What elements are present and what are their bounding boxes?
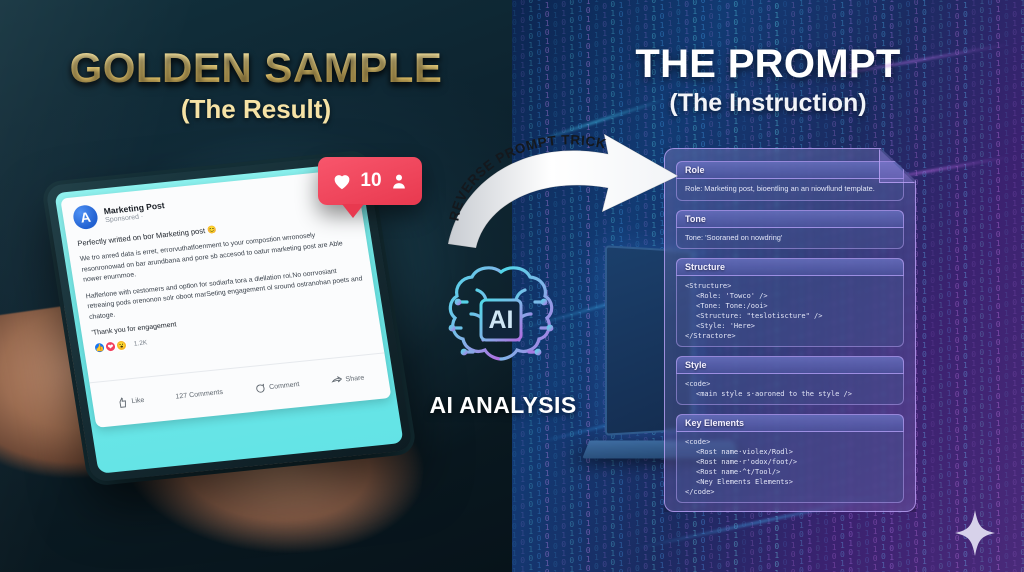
post-body-text-1: We tro anred data is erret, errorvuthatf… <box>79 227 359 286</box>
prompt-document-panel: RoleRole: Marketing post, bioentling an … <box>664 148 916 512</box>
thumbsup-reaction-icon: 👍 <box>93 342 106 354</box>
comment-label: Comment <box>269 381 300 391</box>
prompt-line: <Rost name·^t/Tool/> <box>685 467 895 477</box>
post-sponsored-label: Sponsored · <box>104 210 166 225</box>
prompt-section-body: <code><Rost name·violex/Rodl><Rost name·… <box>676 432 904 503</box>
hand-left <box>0 283 271 572</box>
post-lead-text: Perfectly writted on bor Marketing post … <box>77 210 354 249</box>
ai-analysis-label: AI ANALYSIS <box>408 392 598 419</box>
comment-button[interactable]: Comment <box>253 379 300 394</box>
wow-reaction-icon: 😮 <box>115 339 128 351</box>
post-header: A Marketing Post Sponsored · ••• <box>72 179 351 231</box>
prompt-line: <Structure: "teslotiscture" /> <box>685 311 895 321</box>
prompt-line: </code> <box>685 487 895 497</box>
prompt-section-body: <code><main style s·aoroned to the style… <box>676 374 904 405</box>
share-button[interactable]: Share <box>330 373 365 387</box>
heart-reaction-icon: ❤ <box>104 341 117 353</box>
prompt-line: <main style s·aoroned to the style /> <box>685 389 895 399</box>
prompt-line: <Structure> <box>685 281 895 291</box>
prompt-line: <Role: 'Towco' /> <box>685 291 895 301</box>
page-subtitle-left: (The Result) <box>0 94 512 125</box>
thumbsup-icon <box>116 397 129 409</box>
prompt-section-body: Role: Marketing post, bioentling an an n… <box>676 179 904 201</box>
curved-arrow-right-icon: REVERSE PROMPT TRICK <box>432 132 700 260</box>
page-title-left: GOLDEN SAMPLE <box>0 44 512 92</box>
prompt-line: Tone: 'Sooraned on nowdring' <box>685 233 895 244</box>
reverse-prompt-arrow: REVERSE PROMPT TRICK <box>432 132 700 260</box>
prompt-section-heading: Role <box>676 161 904 179</box>
hand-right <box>109 367 431 572</box>
prompt-section-heading: Tone <box>676 210 904 228</box>
avatar: A <box>72 204 100 230</box>
like-label: Like <box>131 397 145 405</box>
prompt-section-heading: Structure <box>676 258 904 276</box>
share-icon <box>330 375 343 387</box>
sparkle-icon <box>955 510 995 556</box>
brain-chip-label: AI <box>489 306 514 334</box>
prompt-section-heading: Key Elements <box>676 414 904 432</box>
prompt-line: <Tone: Tone:/ooi> <box>685 301 895 311</box>
prompt-line: <Ney Elements Elements> <box>685 477 895 487</box>
reaction-count: 1.2K <box>133 339 147 347</box>
person-icon <box>389 171 409 191</box>
post-body-text-2: Hafferlone with cestomers and optlon for… <box>85 264 365 323</box>
page-title-right: THE PROMPT <box>512 42 1024 87</box>
prompt-section-heading: Style <box>676 356 904 374</box>
prompt-line: <code> <box>685 437 895 447</box>
post-thanks-text: 'Thank you for engagement <box>91 302 367 337</box>
prompt-section: Key Elements<code><Rost name·violex/Rodl… <box>676 414 904 503</box>
comment-icon <box>253 383 266 395</box>
like-count: 10 <box>360 170 381 192</box>
post-action-bar: Like 127 Comments Comment <box>89 352 391 427</box>
prompt-line: <Rost name·violex/Rodl> <box>685 447 895 457</box>
comments-count: 127 Comments <box>175 389 223 401</box>
post-author-name: Marketing Post <box>103 200 165 216</box>
post-reactions: 👍 ❤ 😮 1.2K <box>93 315 370 354</box>
prompt-sections-list: RoleRole: Marketing post, bioentling an … <box>676 161 904 503</box>
like-button[interactable]: Like <box>116 395 145 409</box>
tablet-device: A Marketing Post Sponsored · ••• Perfect… <box>45 154 413 483</box>
prompt-line: Role: Marketing post, bioentling an an n… <box>685 184 895 195</box>
heart-icon <box>331 170 353 192</box>
page-subtitle-right: (The Instruction) <box>512 89 1024 118</box>
prompt-section-body: Tone: 'Sooraned on nowdring' <box>676 228 904 250</box>
ellipsis-icon[interactable]: ••• <box>333 185 349 198</box>
tablet-screen: A Marketing Post Sponsored · ••• Perfect… <box>54 162 403 473</box>
prompt-line: <Rost name·r'odox/foot/> <box>685 457 895 467</box>
left-title-block: GOLDEN SAMPLE (The Result) <box>0 44 512 125</box>
prompt-section: ToneTone: 'Sooraned on nowdring' <box>676 210 904 250</box>
prompt-section: RoleRole: Marketing post, bioentling an … <box>676 161 904 201</box>
social-post-card: A Marketing Post Sponsored · ••• Perfect… <box>60 169 391 428</box>
share-label: Share <box>345 375 365 384</box>
left-panel: GOLDEN SAMPLE (The Result) A Marketing P… <box>0 0 512 572</box>
like-notification-badge: 10 <box>318 157 422 205</box>
prompt-section: Style<code><main style s·aoroned to the … <box>676 356 904 405</box>
prompt-line: <code> <box>685 379 895 389</box>
prompt-line: </Stractore> <box>685 331 895 341</box>
prompt-section-body: <Structure><Role: 'Towco' /><Tone: Tone:… <box>676 276 904 347</box>
prompt-section: Structure<Structure><Role: 'Towco' /><To… <box>676 258 904 347</box>
ai-brain-icon: AI <box>437 256 565 384</box>
infographic-canvas: GOLDEN SAMPLE (The Result) A Marketing P… <box>0 0 1024 572</box>
prompt-line: <Style: 'Here> <box>685 321 895 331</box>
